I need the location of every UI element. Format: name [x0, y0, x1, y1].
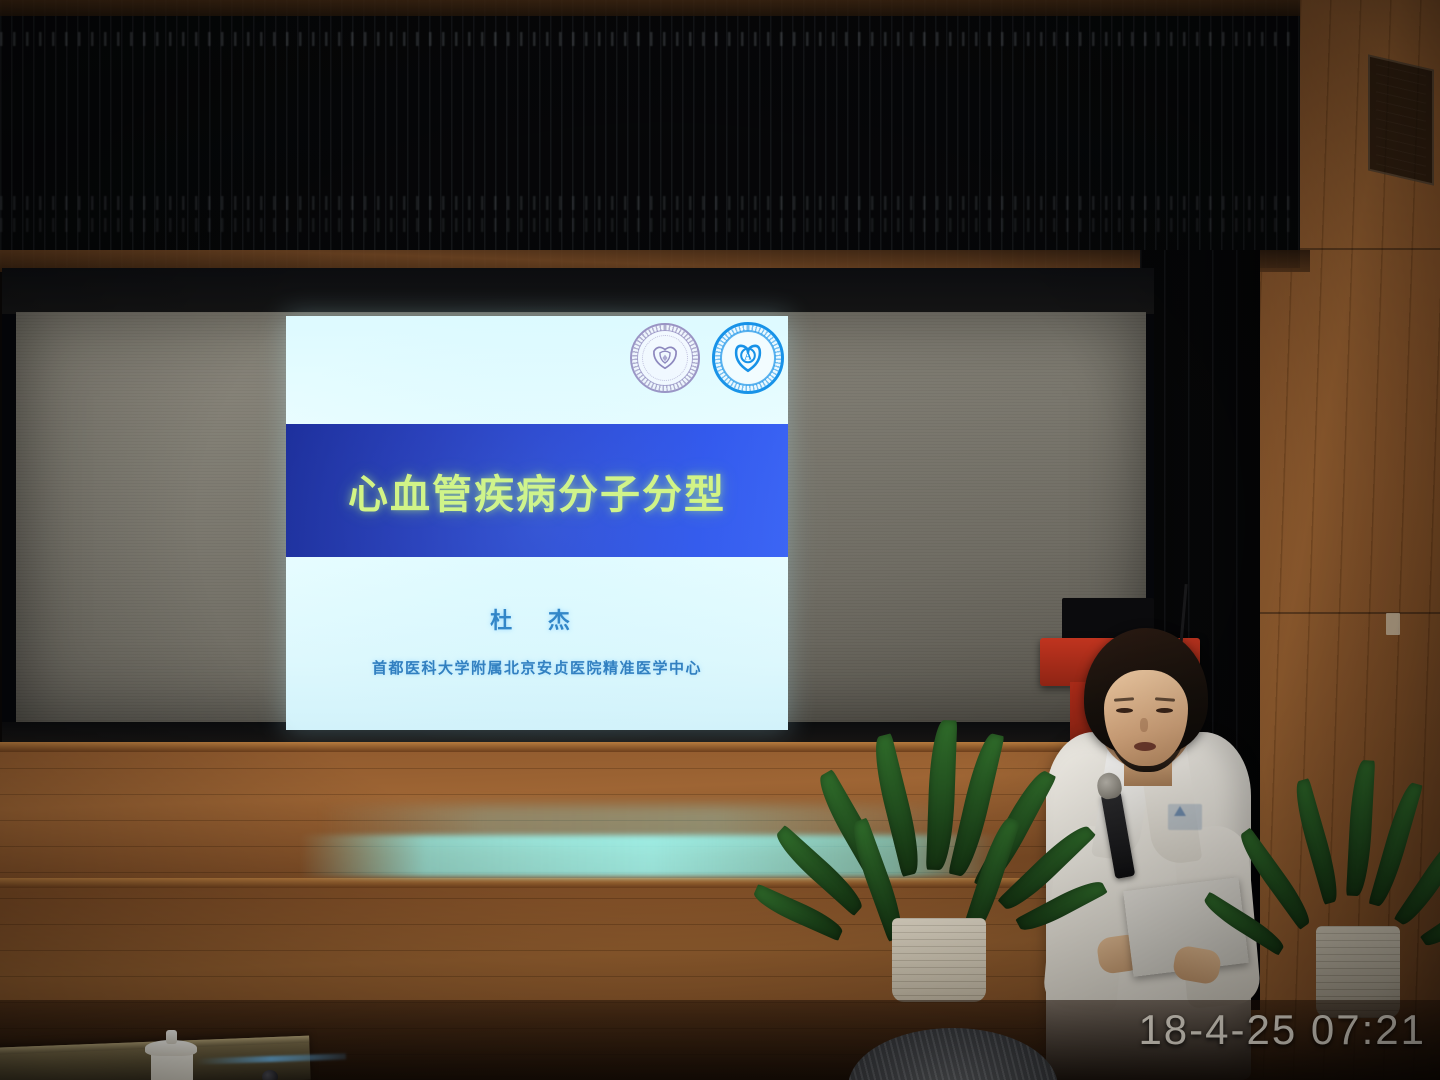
emblem-core-glyph: A: [731, 341, 765, 375]
wall-vent-panel: [1368, 54, 1434, 185]
nose: [1140, 718, 1148, 732]
camera-timestamp: 18-4-25 07:21: [1138, 1006, 1426, 1054]
teacup-lid-knob: [166, 1030, 177, 1044]
presentation-slide: A 心血管疾病分子分型 杜 杰 首都医科大学附属北京安贞医院精准医学中心: [286, 316, 788, 730]
pot-ribs: [892, 918, 986, 1002]
vent-louvers: [1376, 64, 1426, 176]
anzhen-hospital-emblem-icon: A: [712, 322, 784, 394]
slide-footer-area: 杜 杰 首都医科大学附属北京安贞医院精准医学中心: [286, 557, 788, 730]
potted-plant-left: [830, 718, 1050, 1018]
slide-presenter-name: 杜 杰: [286, 603, 788, 635]
svg-text:A: A: [744, 352, 752, 363]
light-switch-plate[interactable]: [1386, 613, 1400, 635]
curtain-highlight: [0, 218, 1300, 232]
plant-leaf: [1346, 760, 1375, 897]
plant-leaf: [926, 720, 957, 871]
eye-right: [1156, 708, 1173, 713]
mouth: [1134, 742, 1156, 751]
photograph-scene: A 心血管疾病分子分型 杜 杰 首都医科大学附属北京安贞医院精准医学中心: [0, 0, 1440, 1080]
slide-logo-group: A: [630, 322, 784, 394]
emblem-core-glyph: [648, 341, 682, 375]
capital-medical-university-emblem-icon: [630, 323, 700, 393]
eye-left: [1116, 708, 1133, 713]
plant-leaf: [1290, 778, 1344, 905]
curtain-highlight: [0, 196, 1300, 210]
lidded-teacup: [145, 1028, 197, 1080]
plant-pot: [892, 918, 986, 1002]
slide-title-band: 心血管疾病分子分型: [286, 424, 788, 557]
slide-affiliation: 首都医科大学附属北京安贞医院精准医学中心: [286, 657, 788, 678]
potted-plant-right: [1272, 760, 1440, 1030]
curtain-highlight: [0, 32, 1300, 46]
stage-curtain-top: [0, 0, 1300, 268]
screen-top-bar: [2, 268, 1154, 314]
hospital-logo-badge: [1168, 804, 1202, 830]
slide-title: 心血管疾病分子分型: [348, 462, 726, 520]
ceiling-beam: [0, 0, 1300, 16]
slide-header-area: A: [286, 316, 788, 424]
small-dark-object: [262, 1070, 278, 1080]
